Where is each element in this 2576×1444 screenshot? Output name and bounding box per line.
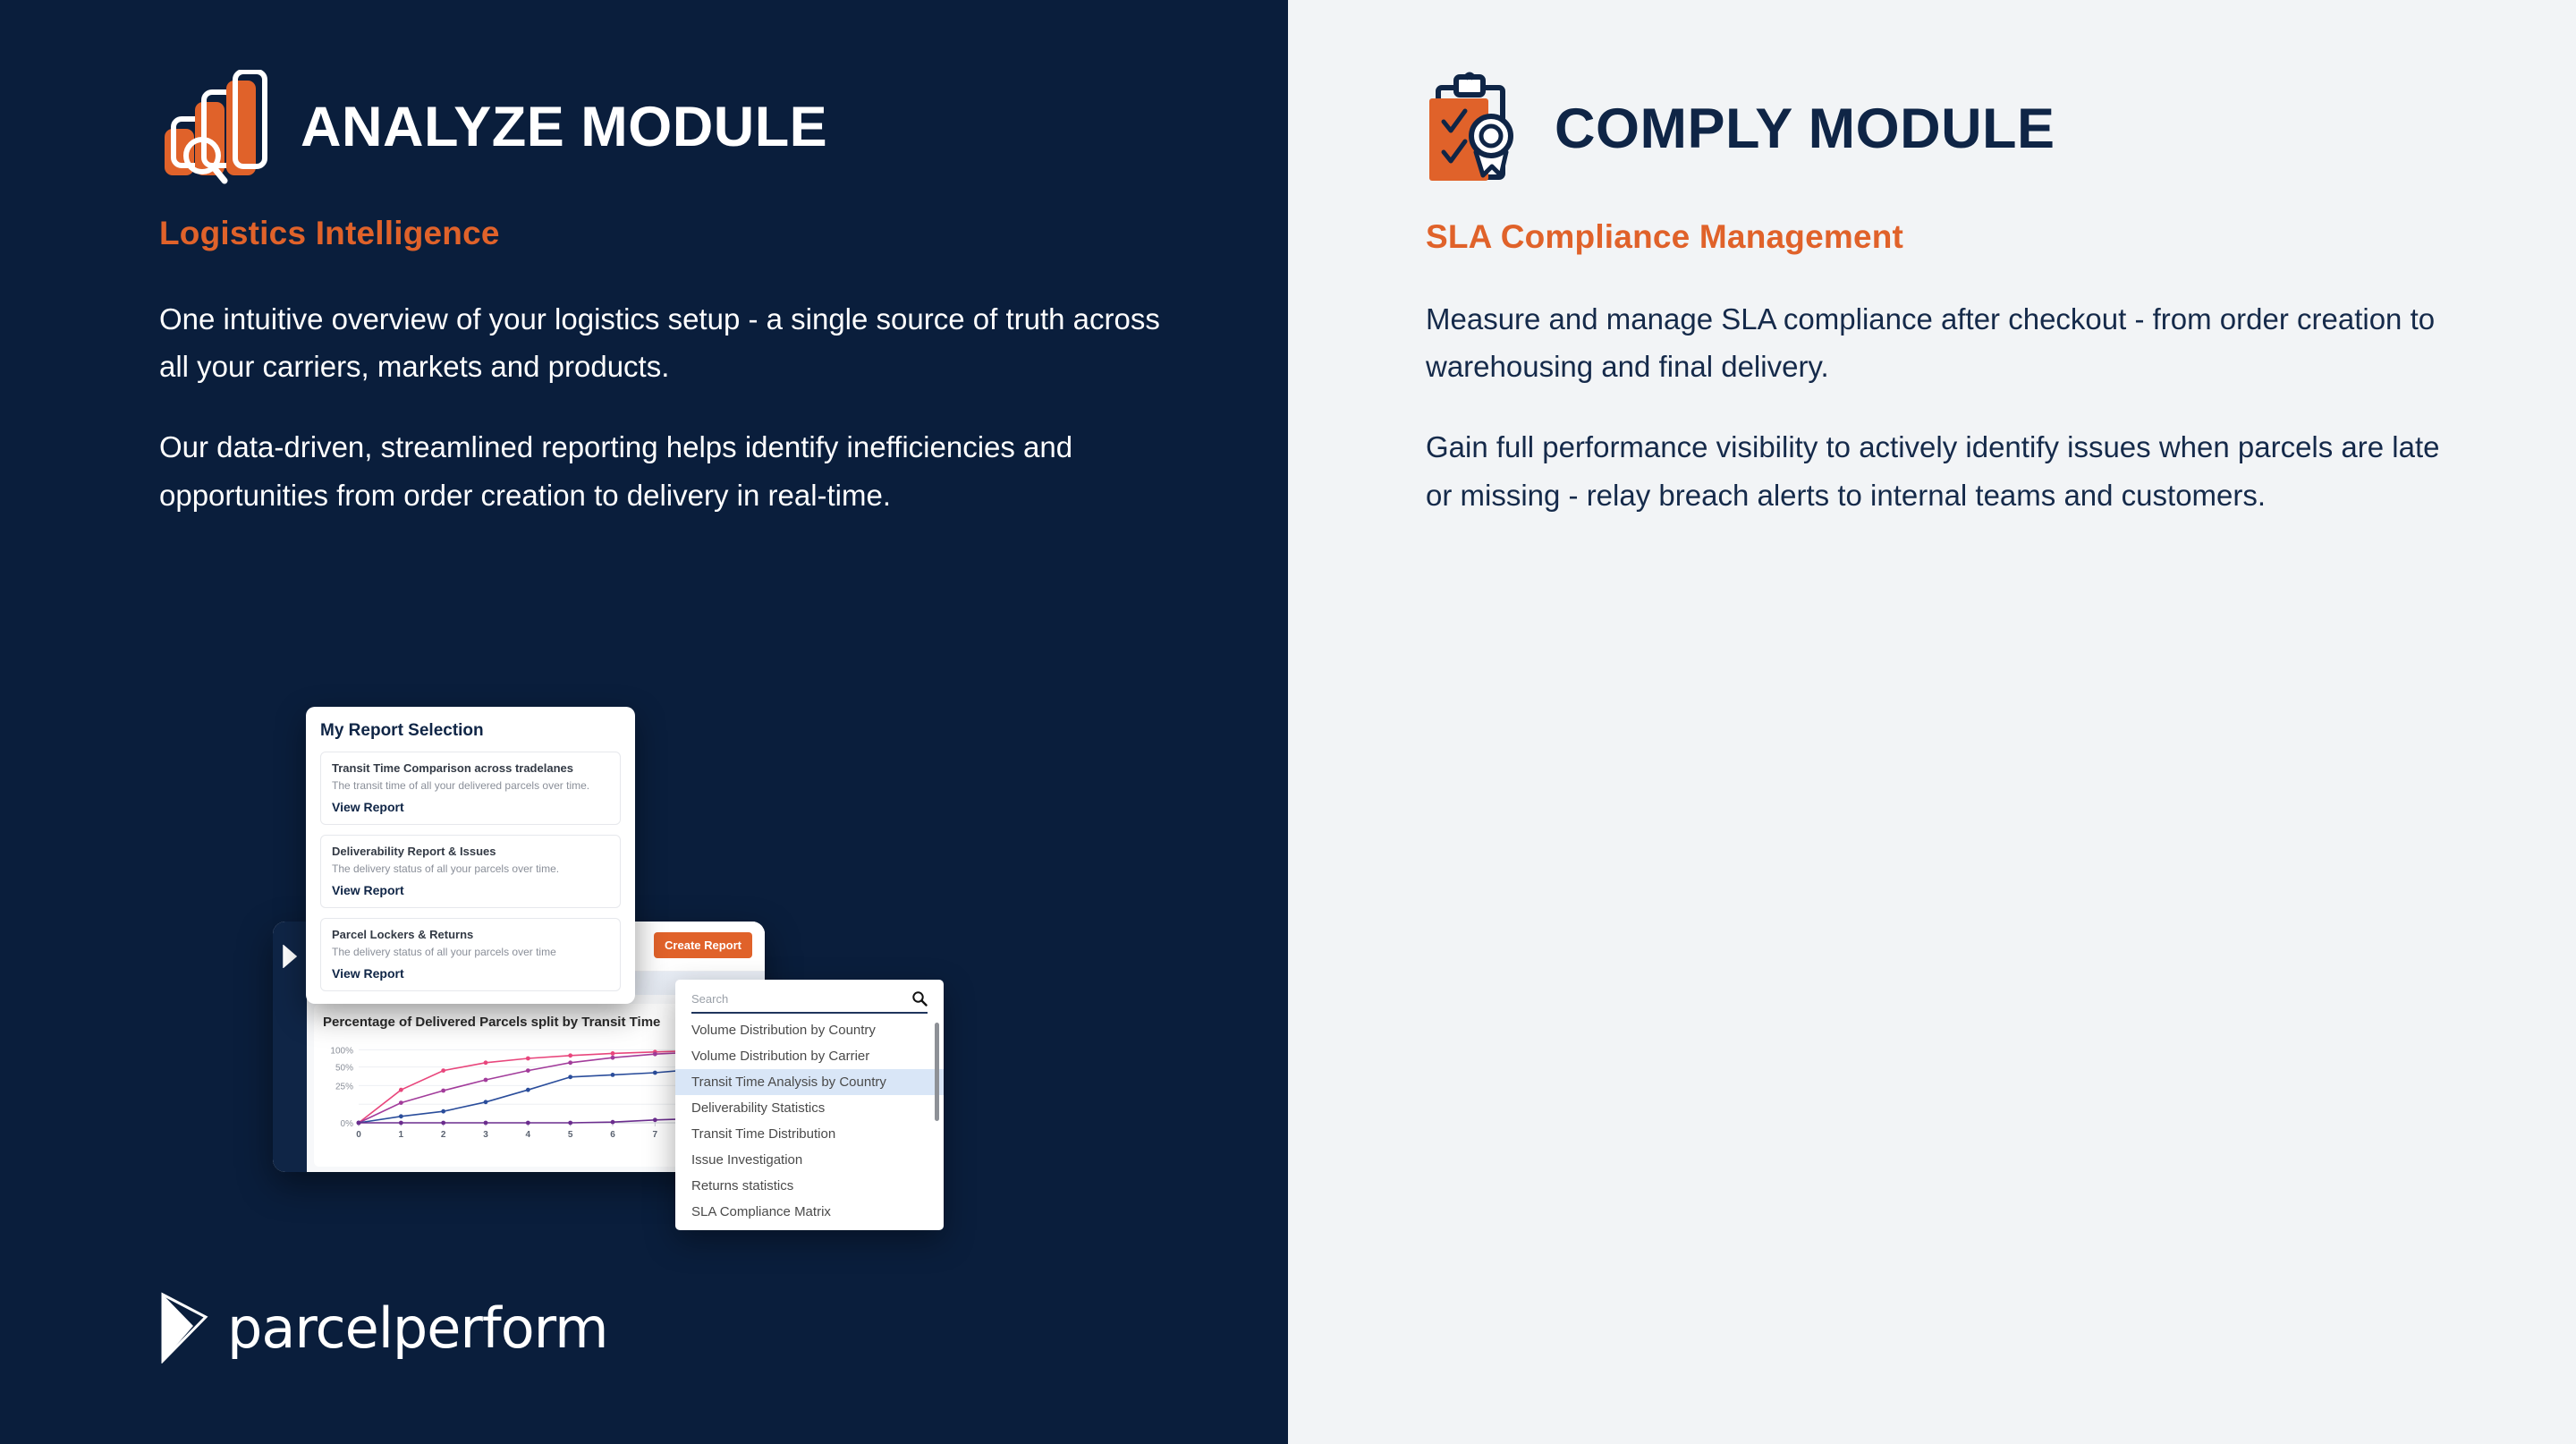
comply-module-panel: COMPLY MODULE SLA Compliance Management … [1288,0,2576,1444]
svg-text:0%: 0% [341,1119,354,1129]
create-report-button[interactable]: Create Report [654,932,752,958]
report-option-item[interactable]: Issue Investigation [675,1147,944,1173]
comply-paragraph-1: Measure and manage SLA compliance after … [1426,295,2463,391]
report-selection-title: My Report Selection [320,721,621,741]
report-item-description: The delivery status of all your parcels … [332,946,609,958]
page-title: ANALYZE MODULE [301,99,827,156]
report-option-item[interactable]: Returns statistics [675,1173,944,1199]
report-option-item[interactable]: Deliverability Statistics [675,1095,944,1121]
report-option-item[interactable]: Transit Time Analysis by Country [675,1069,944,1095]
search-field[interactable]: Search [691,990,928,1014]
report-option-item[interactable]: SLA Compliance Matrix [675,1199,944,1225]
comply-clipboard-checklist-award-icon [1426,70,1531,188]
svg-text:25%: 25% [335,1082,353,1091]
parcelperform-logo: parcelperform [159,1292,607,1363]
svg-text:7: 7 [653,1130,658,1140]
view-report-link[interactable]: View Report [332,966,609,981]
analyze-paragraph-2: Our data-driven, streamlined reporting h… [159,423,1161,519]
report-option-list[interactable]: Volume Distribution by CountryVolume Dis… [675,1017,944,1225]
svg-text:6: 6 [610,1130,615,1140]
svg-text:50%: 50% [335,1064,353,1074]
svg-text:1: 1 [399,1130,404,1140]
comply-paragraph-2: Gain full performance visibility to acti… [1426,423,2463,519]
report-item-title: Deliverability Report & Issues [332,845,609,858]
expand-arrow-icon [282,945,298,968]
my-report-selection-card: My Report Selection Transit Time Compari… [306,707,635,1004]
analyze-bar-chart-magnifier-icon [159,70,277,184]
page-title: COMPLY MODULE [1555,101,2055,157]
report-item-title: Parcel Lockers & Returns [332,928,609,941]
report-list-item[interactable]: Parcel Lockers & Returns The delivery st… [320,918,621,991]
sidebar-rail[interactable] [273,922,307,1172]
svg-text:0: 0 [356,1130,361,1140]
svg-text:100%: 100% [330,1046,353,1056]
svg-text:5: 5 [568,1130,573,1140]
svg-text:4: 4 [526,1130,531,1140]
view-report-link[interactable]: View Report [332,800,609,814]
parcelperform-wordmark: parcelperform [227,1295,607,1361]
comply-subtitle: SLA Compliance Management [1426,218,2463,256]
analyze-body: One intuitive overview of your logistics… [159,295,1161,519]
report-list-item[interactable]: Deliverability Report & Issues The deliv… [320,835,621,908]
analyze-header: ANALYZE MODULE [159,70,1161,184]
report-option-item[interactable]: Volume Distribution by Carrier [675,1043,944,1069]
report-item-description: The delivery status of all your parcels … [332,862,609,875]
search-icon [911,990,928,1007]
dropdown-scrollbar[interactable] [935,1023,939,1121]
report-item-title: Transit Time Comparison across tradelane… [332,761,609,775]
report-option-item[interactable]: Transit Time Distribution [675,1121,944,1147]
svg-text:3: 3 [483,1130,488,1140]
comply-content: COMPLY MODULE SLA Compliance Management … [1426,70,2463,519]
analyze-module-panel: ANALYZE MODULE Logistics Intelligence On… [0,0,1288,1444]
analyze-content: ANALYZE MODULE Logistics Intelligence On… [159,70,1161,519]
report-option-item[interactable]: Volume Distribution by Country [675,1017,944,1043]
report-item-description: The transit time of all your delivered p… [332,779,609,792]
comply-header: COMPLY MODULE [1426,70,2463,188]
analyze-paragraph-1: One intuitive overview of your logistics… [159,295,1161,391]
analyze-subtitle: Logistics Intelligence [159,215,1161,252]
view-report-link[interactable]: View Report [332,883,609,897]
svg-text:2: 2 [441,1130,446,1140]
comply-body: Measure and manage SLA compliance after … [1426,295,2463,519]
search-placeholder: Search [691,992,728,1006]
analyze-screenshot-mockup: Create Report Percentage of Delivered Pa… [268,707,984,1244]
report-search-dropdown[interactable]: Search Volume Distribution by CountryVol… [675,980,944,1230]
report-list-item[interactable]: Transit Time Comparison across tradelane… [320,752,621,825]
parcelperform-mark-icon [159,1292,211,1363]
